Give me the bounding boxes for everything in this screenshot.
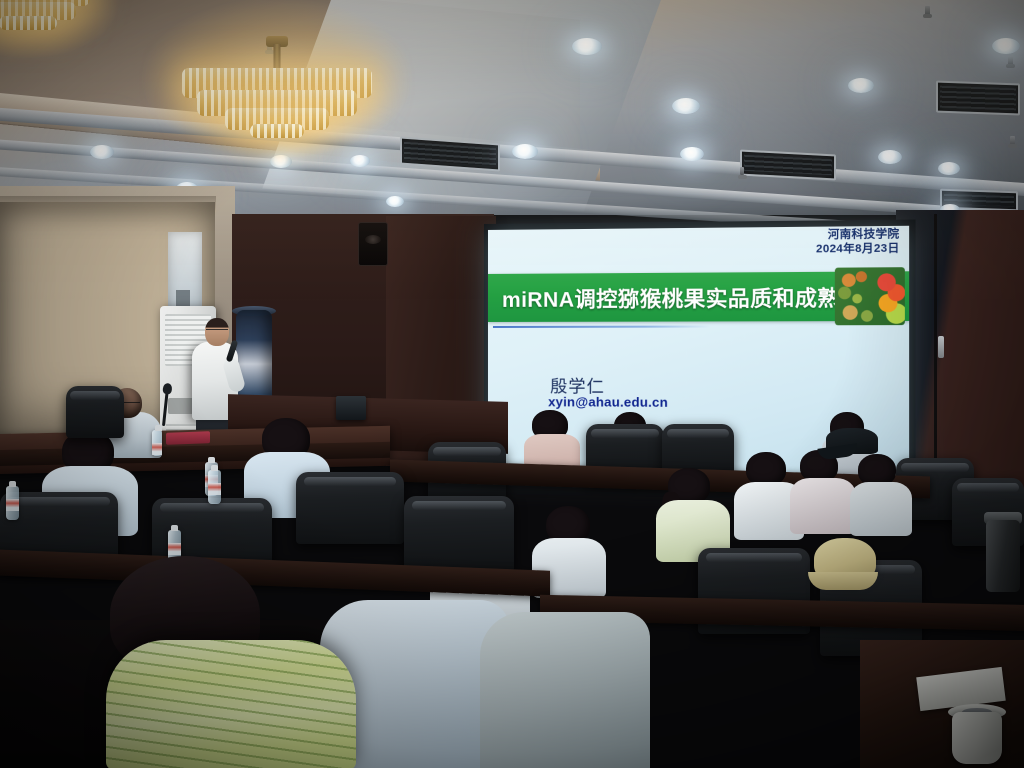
hvac-vent bbox=[936, 81, 1020, 116]
ceiling-downlight bbox=[512, 144, 538, 159]
torso bbox=[850, 482, 912, 536]
glasses-icon bbox=[206, 329, 228, 335]
lecture-hall-photo: 河南科技学院 2024年8月23日 miRNA调控猕猴桃果实品质和成熟 殷学仁 … bbox=[0, 0, 1024, 768]
sprinkler-head bbox=[1008, 56, 1013, 67]
ceiling-downlight bbox=[350, 155, 370, 167]
conference-chair[interactable] bbox=[404, 496, 514, 572]
ceiling-downlight bbox=[938, 162, 960, 175]
ceiling-downlight bbox=[572, 38, 602, 55]
ceiling-downlight bbox=[386, 196, 404, 207]
ceiling-downlight bbox=[680, 147, 704, 161]
thermos-flask[interactable] bbox=[986, 520, 1020, 592]
ceiling-downlight bbox=[878, 150, 902, 164]
water-bottle[interactable] bbox=[6, 486, 19, 520]
hvac-vent bbox=[740, 149, 836, 180]
head bbox=[746, 452, 786, 486]
sprinkler-head bbox=[740, 167, 744, 175]
slide-title: miRNA调控猕猴桃果实品质和成熟 bbox=[502, 278, 841, 318]
water-bottle[interactable] bbox=[208, 470, 221, 504]
beige-cap-brim bbox=[808, 572, 878, 590]
ceiling-downlight bbox=[90, 145, 114, 159]
ceiling-downlight bbox=[672, 98, 700, 114]
host-institution: 河南科技学院 bbox=[816, 228, 899, 243]
cup[interactable] bbox=[952, 712, 1002, 764]
presentation-date: 2024年8月23日 bbox=[816, 242, 899, 257]
sprinkler-head bbox=[925, 6, 930, 17]
water-bottle[interactable] bbox=[152, 430, 162, 456]
red-folder[interactable] bbox=[166, 431, 210, 445]
ceiling-downlight bbox=[848, 78, 874, 93]
fruit-collage-image bbox=[835, 267, 905, 325]
foreground-person-shirt bbox=[480, 612, 650, 768]
conference-chair[interactable] bbox=[296, 472, 404, 544]
foreground-person-knit-top bbox=[106, 640, 356, 768]
laptop[interactable] bbox=[336, 396, 366, 420]
chandelier-main bbox=[180, 36, 374, 142]
sprinkler-head bbox=[1010, 136, 1015, 147]
slide-header: 河南科技学院 2024年8月23日 bbox=[816, 228, 899, 257]
chandelier-secondary bbox=[0, 0, 92, 46]
presenter-email: xyin@ahau.edu.cn bbox=[548, 394, 668, 410]
torso bbox=[790, 478, 856, 534]
title-underline bbox=[493, 326, 711, 328]
ceiling-downlight bbox=[992, 38, 1020, 54]
door-handle[interactable] bbox=[938, 336, 944, 358]
wall-speaker-icon bbox=[358, 222, 388, 266]
conference-chair[interactable] bbox=[66, 386, 124, 438]
